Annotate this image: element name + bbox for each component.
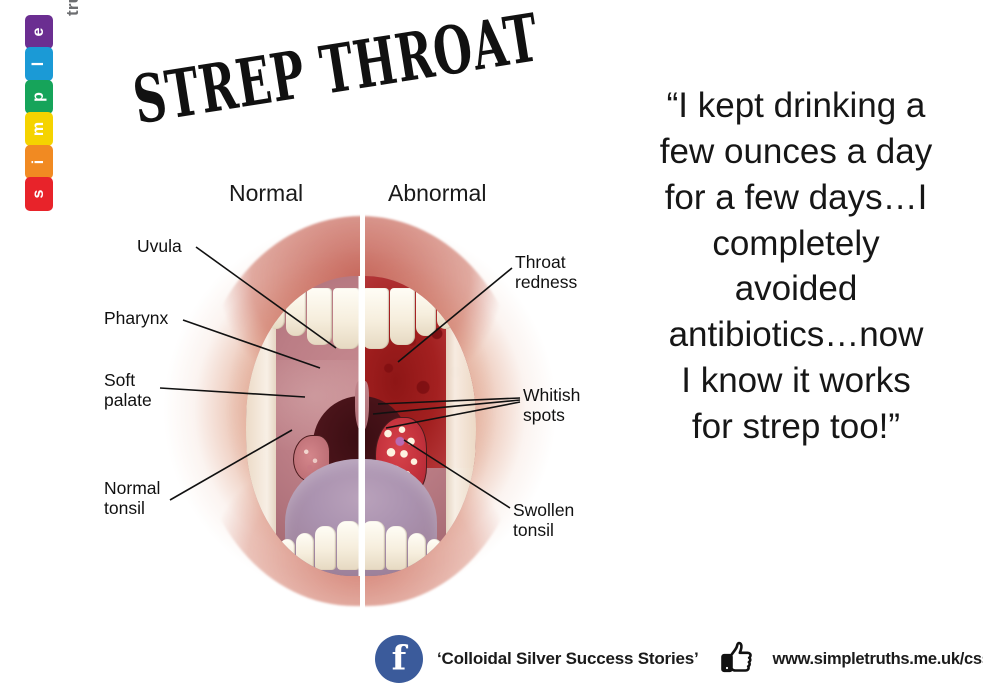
annotation-soft-palate: Soft palate — [104, 370, 152, 410]
website-url[interactable]: www.simpletruths.me.uk/csss — [773, 650, 983, 669]
tooth — [362, 521, 385, 570]
logo-letter-m: m — [31, 122, 47, 136]
logo-letter-p: p — [31, 92, 47, 102]
quote-line: antibiotics…now — [622, 312, 970, 358]
annotation-normal-tonsil-line1: Normal — [104, 478, 160, 498]
tooth — [427, 539, 442, 570]
thumbs-up-icon — [715, 637, 759, 681]
annotation-uvula-label: Uvula — [137, 236, 182, 256]
logo-block-s: s — [25, 177, 53, 211]
quote-line: avoided — [622, 266, 970, 312]
annotation-uvula: Uvula — [137, 236, 182, 256]
tooth — [416, 288, 436, 336]
mouth-illustration — [150, 196, 570, 624]
tooth — [280, 539, 295, 570]
annotation-pharynx: Pharynx — [104, 308, 168, 328]
tooth — [268, 288, 285, 329]
tooth — [296, 533, 314, 570]
tooth — [437, 288, 454, 329]
infographic-page: e l p m i s truths foundation STREP THRO… — [0, 0, 983, 700]
annotation-swollen-tonsil-line2: tonsil — [513, 520, 574, 540]
annotation-throat-redness-line1: Throat — [515, 252, 577, 272]
quote-line: few ounces a day — [622, 129, 970, 175]
annotation-swollen-tonsil-line1: Swollen — [513, 500, 574, 520]
logo-letter-e: e — [31, 28, 47, 37]
quote-line: “I kept drinking a — [622, 83, 970, 129]
annotation-whitish-spots-line2: spots — [523, 405, 580, 425]
normal-abnormal-divider-outer — [360, 196, 365, 624]
quote-line: I know it works — [622, 358, 970, 404]
footer-bar: ‘Colloidal Silver Success Stories’ www.s… — [375, 628, 955, 690]
annotation-throat-redness-line2: redness — [515, 272, 577, 292]
tooth — [362, 288, 389, 349]
annotation-pharynx-label: Pharynx — [104, 308, 168, 328]
quote-line: completely — [622, 221, 970, 267]
tooth — [386, 526, 407, 570]
tooth — [408, 533, 426, 570]
annotation-swollen-tonsil: Swollen tonsil — [513, 500, 574, 540]
logo-letter-i: i — [31, 159, 47, 163]
annotation-soft-palate-line1: Soft — [104, 370, 152, 390]
annotation-normal-tonsil-line2: tonsil — [104, 498, 160, 518]
quote-line: for a few days…I — [622, 175, 970, 221]
logo-letter-l: l — [31, 62, 47, 66]
logo-block-p: p — [25, 80, 53, 114]
facebook-icon[interactable] — [375, 635, 423, 683]
annotation-throat-redness: Throat redness — [515, 252, 577, 292]
page-title: STREP THROAT — [128, 0, 539, 161]
annotation-whitish-spots: Whitish spots — [523, 385, 580, 425]
tooth — [307, 288, 332, 345]
logo-letter-s: s — [31, 190, 47, 199]
page-title-text: STREP THROAT — [128, 0, 544, 139]
logo-block-e: e — [25, 15, 53, 49]
simple-truths-foundation-logo: e l p m i s truths foundation — [22, 18, 108, 213]
testimonial-quote: “I kept drinking a few ounces a day for … — [622, 83, 970, 450]
tooth — [286, 288, 306, 336]
quote-line: for strep too!” — [622, 404, 970, 450]
tooth — [333, 288, 360, 349]
facebook-page-name: ‘Colloidal Silver Success Stories’ — [437, 649, 699, 669]
tooth — [390, 288, 415, 345]
tooth — [315, 526, 336, 570]
annotation-soft-palate-line2: palate — [104, 390, 152, 410]
annotation-normal-tonsil: Normal tonsil — [104, 478, 160, 518]
logo-block-l: l — [25, 47, 53, 81]
tooth — [337, 521, 360, 570]
logo-wordmark: truths foundation — [58, 0, 88, 16]
annotation-whitish-spots-line1: Whitish — [523, 385, 580, 405]
logo-letter-blocks: e l p m i s — [22, 18, 56, 208]
logo-block-m: m — [25, 112, 53, 146]
logo-block-i: i — [25, 145, 53, 179]
